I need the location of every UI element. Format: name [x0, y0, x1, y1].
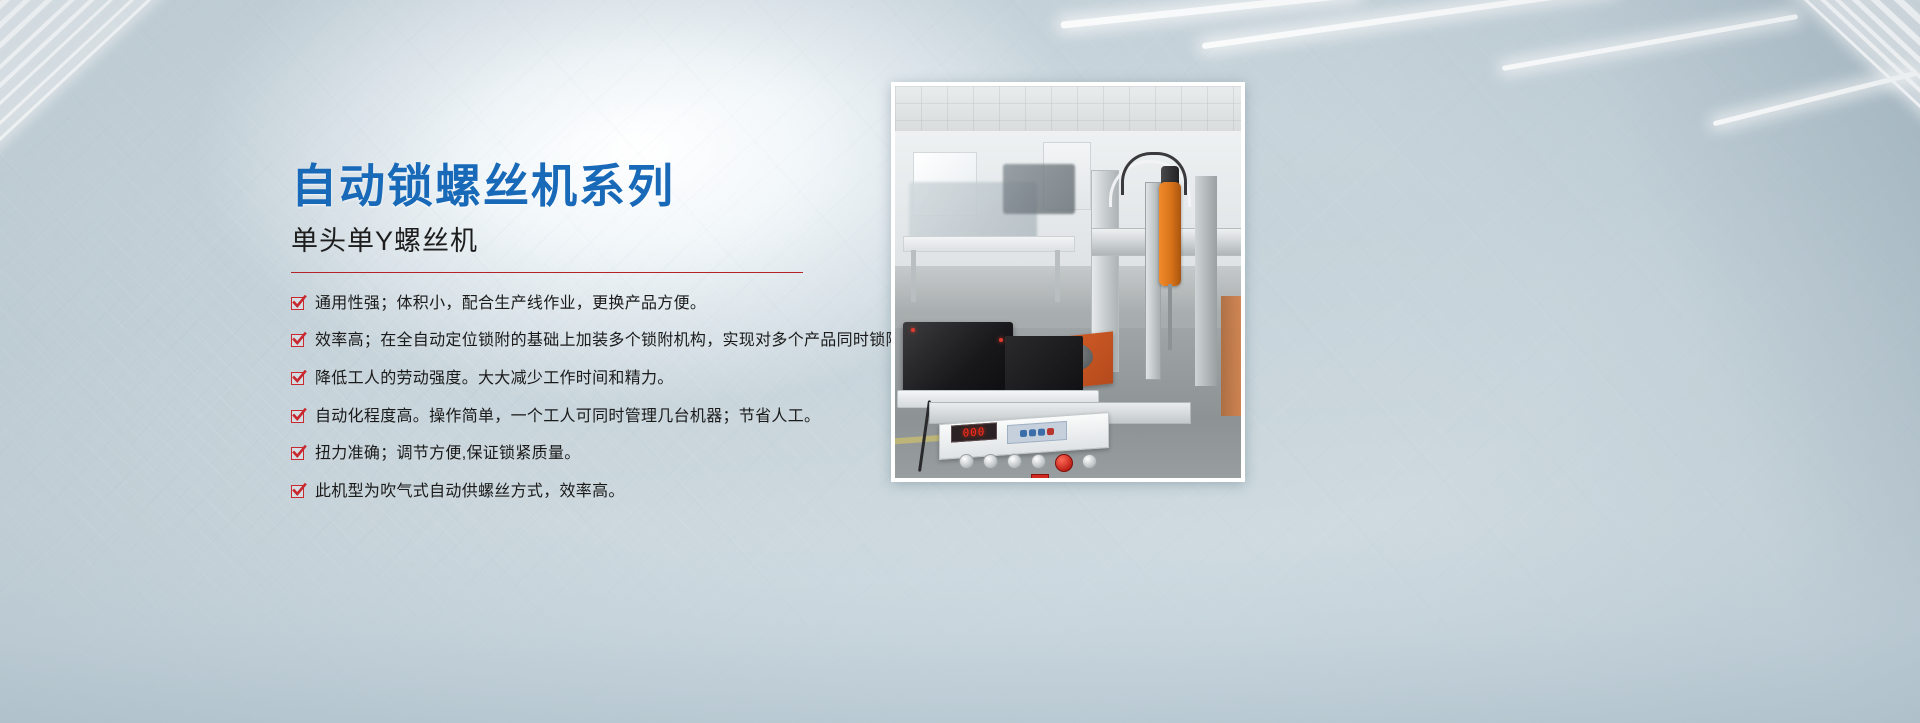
check-icon	[291, 410, 304, 423]
feature-list: 通用性强；体积小，配合生产线作业，更换产品方便。 效率高；在全自动定位锁附的基础…	[291, 293, 891, 503]
photo-push-button	[1007, 454, 1022, 469]
list-item: 扭力准确；调节方便,保证锁紧质量。	[291, 443, 891, 465]
photo-workbench-leg	[911, 250, 916, 302]
banner-content: 自动锁螺丝机系列 单头单Y螺丝机 通用性强；体积小，配合生产线作业，更换产品方便…	[291, 160, 891, 518]
product-photo: 000	[895, 86, 1241, 478]
list-item: 此机型为吹气式自动供螺丝方式，效率高。	[291, 481, 891, 503]
product-banner: 自动锁螺丝机系列 单头单Y螺丝机 通用性强；体积小，配合生产线作业，更换产品方便…	[0, 0, 1920, 723]
page-title: 自动锁螺丝机系列	[291, 160, 891, 213]
photo-workbench	[903, 236, 1075, 252]
photo-linear-rail-2	[1195, 176, 1217, 386]
photo-keypad-key	[1020, 430, 1027, 437]
photo-indicator-led	[911, 328, 915, 332]
photo-led-display: 000	[951, 422, 997, 442]
photo-push-button	[1031, 454, 1046, 469]
photo-indicator-led	[999, 338, 1003, 342]
photo-push-button	[983, 454, 998, 469]
list-item: 自动化程度高。操作简单，一个工人可同时管理几台机器；节省人工。	[291, 406, 891, 428]
page-subtitle: 单头单Y螺丝机	[291, 219, 891, 258]
feature-text: 效率高；在全自动定位锁附的基础上加装多个锁附机构，实现对多个产品同时锁附。	[315, 330, 918, 352]
feature-text: 此机型为吹气式自动供螺丝方式，效率高。	[315, 481, 625, 503]
photo-emergency-stop-button	[1055, 454, 1073, 472]
product-photo-frame: 000	[891, 82, 1245, 482]
check-icon	[291, 372, 304, 385]
check-icon	[291, 334, 304, 347]
photo-power-switch	[1031, 474, 1049, 478]
photo-keypad-key	[1029, 429, 1036, 436]
feature-text: 降低工人的劳动强度。大大减少工作时间和精力。	[315, 368, 674, 390]
photo-electric-screwdriver	[1159, 182, 1181, 286]
list-item: 降低工人的劳动强度。大大减少工作时间和精力。	[291, 368, 891, 390]
photo-background-machine-2	[1003, 164, 1075, 214]
photo-push-button	[959, 454, 974, 469]
feature-text: 自动化程度高。操作简单，一个工人可同时管理几台机器；节省人工。	[315, 406, 820, 428]
feature-text: 通用性强；体积小，配合生产线作业，更换产品方便。	[315, 293, 706, 315]
photo-keypad-key	[1047, 428, 1054, 435]
list-item: 效率高；在全自动定位锁附的基础上加装多个锁附机构，实现对多个产品同时锁附。	[291, 330, 891, 352]
photo-push-button	[1082, 454, 1097, 469]
feature-text: 扭力准确；调节方便,保证锁紧质量。	[315, 443, 581, 465]
photo-right-object	[1221, 296, 1241, 416]
photo-button-row	[959, 454, 1109, 470]
photo-black-controller	[903, 322, 1013, 396]
photo-black-feeder	[1005, 336, 1083, 398]
photo-workbench-leg	[1055, 250, 1060, 302]
photo-led-display-value: 000	[963, 426, 986, 439]
photo-screwdriver-bit	[1168, 284, 1172, 350]
title-divider	[291, 272, 803, 273]
list-item: 通用性强；体积小，配合生产线作业，更换产品方便。	[291, 293, 891, 315]
photo-keypad-key	[1038, 428, 1045, 435]
check-icon	[291, 297, 304, 310]
check-icon	[291, 447, 304, 460]
check-icon	[291, 485, 304, 498]
